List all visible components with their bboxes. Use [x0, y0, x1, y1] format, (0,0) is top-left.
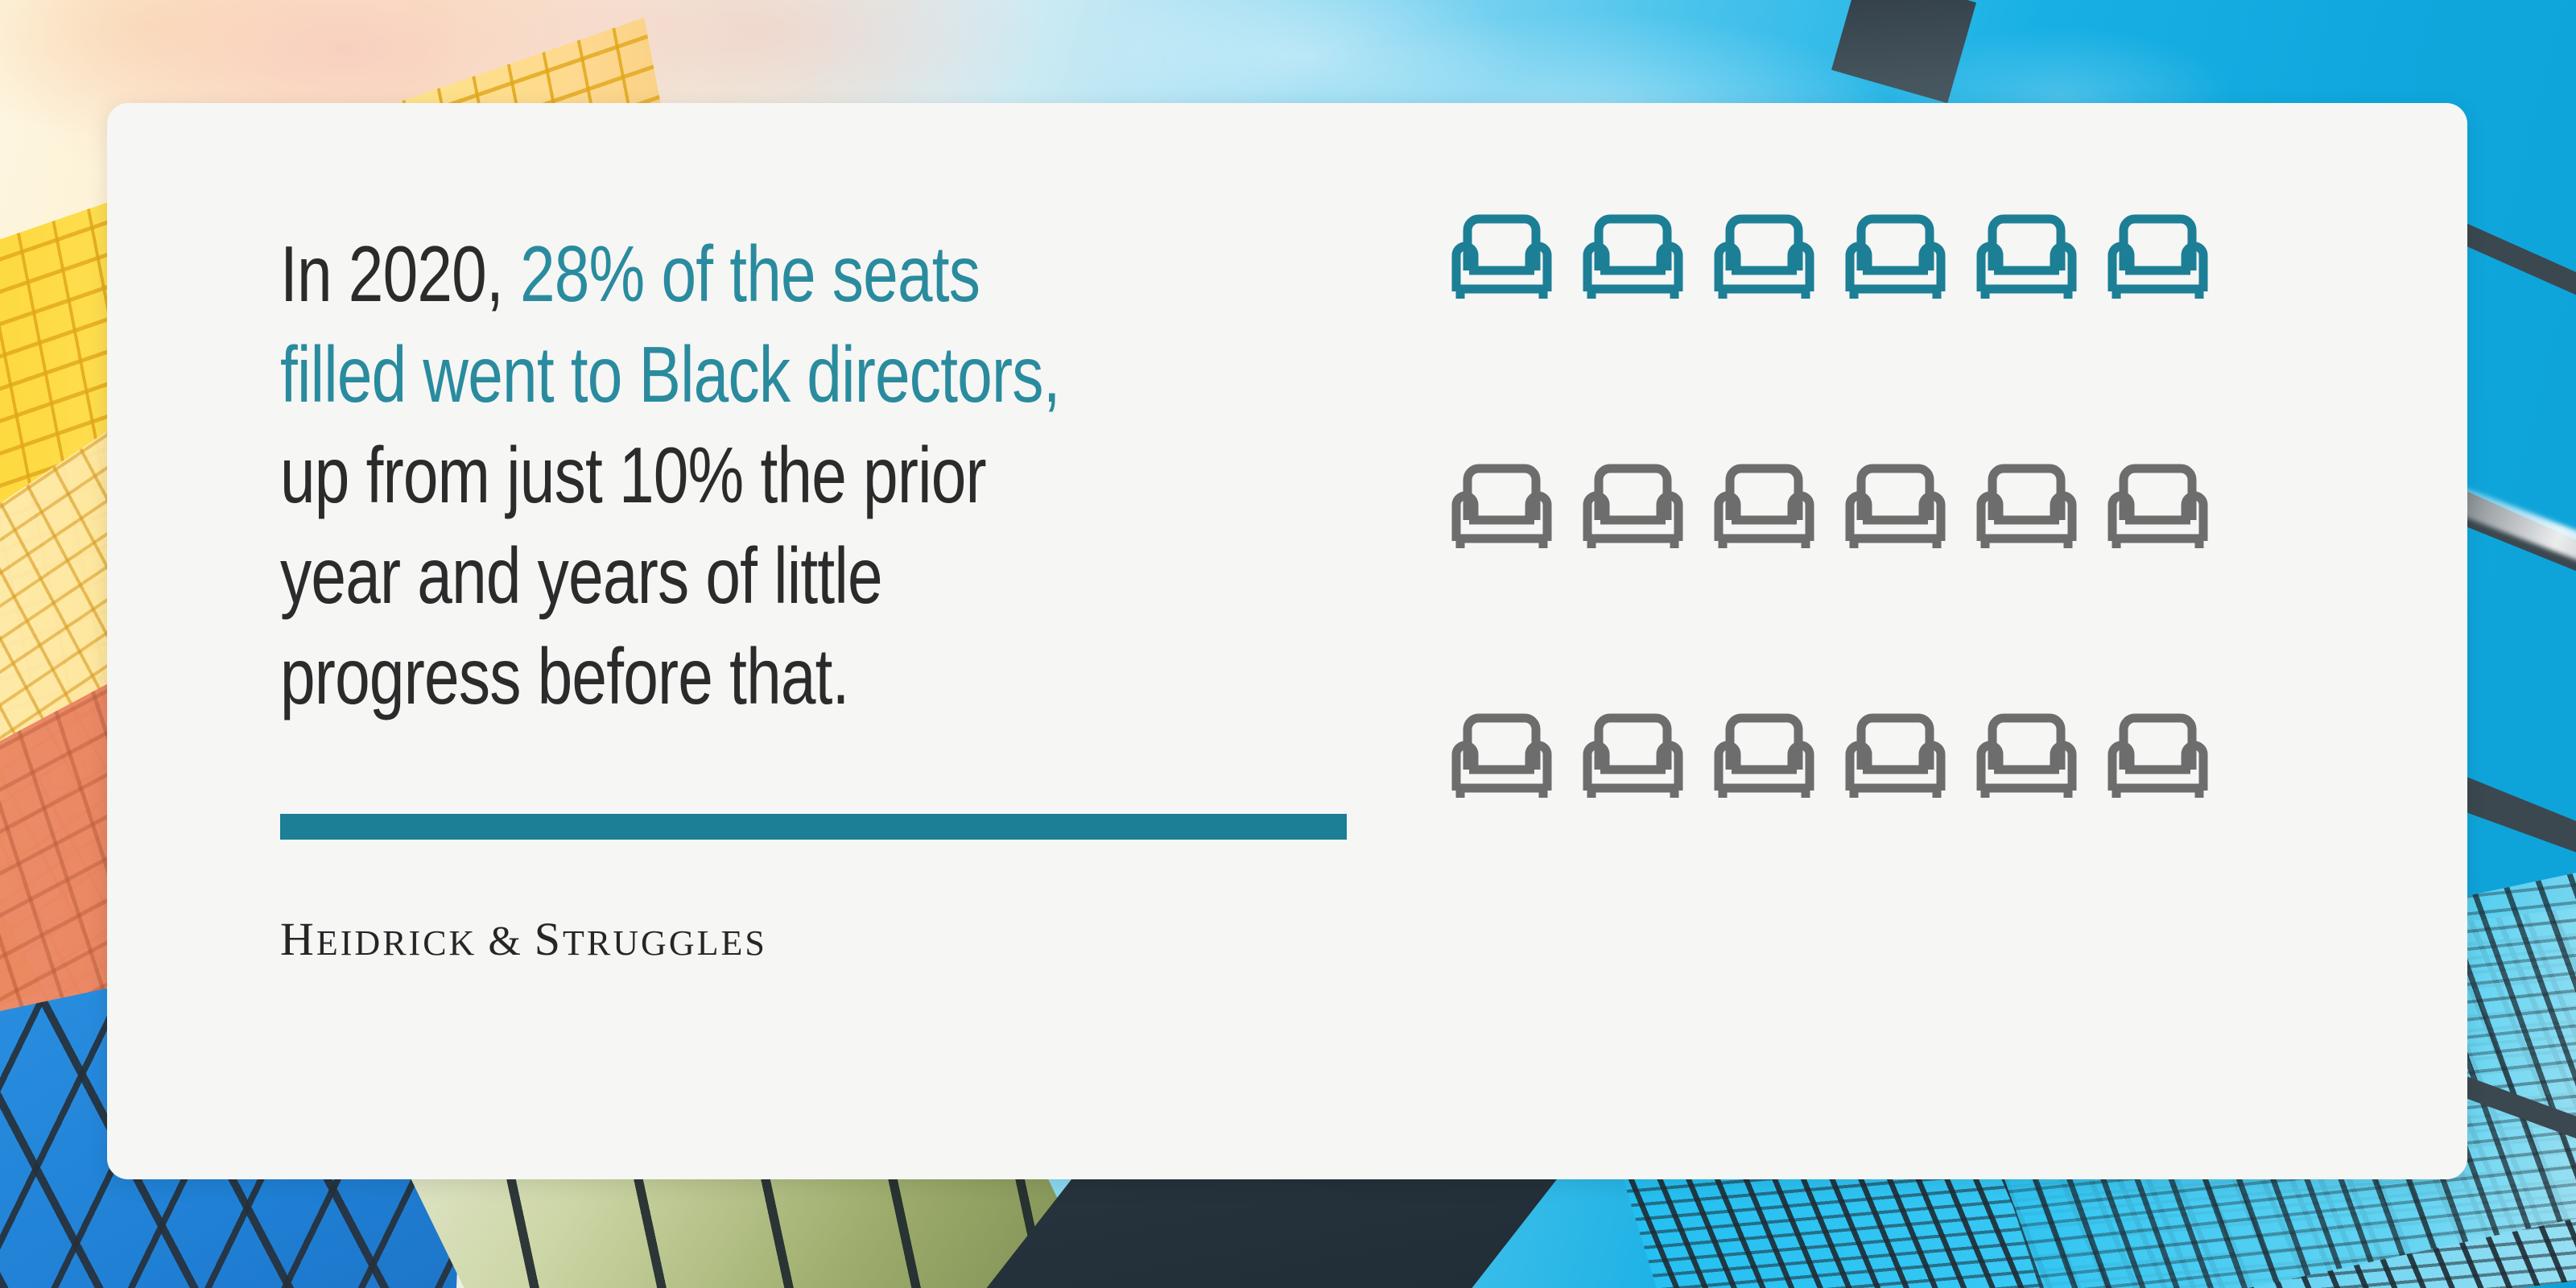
seat-pictogram-grid [1451, 211, 2467, 835]
seat-icon-empty [1845, 460, 1946, 551]
seat-icon-empty [1976, 460, 2077, 551]
seat-icon-empty [2107, 460, 2208, 551]
seat-icon-empty [1714, 460, 1814, 551]
brand-logo: HEIDRICK&STRUGGLES [280, 912, 1331, 966]
seat-icon-empty [1583, 710, 1683, 800]
seat-icon-filled [1583, 211, 1683, 301]
accent-divider-bar [280, 814, 1347, 840]
seat-icon-filled [1451, 211, 1552, 301]
brand-word-heidrick: EIDRICK [316, 923, 477, 963]
seat-icon-empty [1451, 460, 1552, 551]
card-text-column: In 2020, 28% of the seats filled went to… [107, 103, 1331, 966]
seat-icon-empty [1976, 710, 2077, 800]
headline-segment-tail: up from just 10% the prior year and year… [280, 431, 986, 720]
seat-icon-filled [1714, 211, 1814, 301]
headline: In 2020, 28% of the seats filled went to… [280, 224, 1117, 727]
seat-icon-filled [1976, 211, 2077, 301]
brand-ampersand: & [477, 919, 534, 964]
seat-icon-empty [2107, 710, 2208, 800]
brand-initial-h: H [280, 913, 316, 965]
stat-card: In 2020, 28% of the seats filled went to… [107, 103, 2467, 1179]
seat-icon-empty [1845, 710, 1946, 800]
pictogram-title: Share of board seats filled by Black dir… [1451, 835, 1452, 836]
card-pictogram-column: Share of board seats filled by Black dir… [1331, 103, 2467, 835]
brand-word-struggles: TRUGGLES [563, 923, 767, 963]
seat-icon-empty [1583, 460, 1683, 551]
seat-icon-filled [1845, 211, 1946, 301]
headline-segment-lead: In 2020, [280, 229, 520, 318]
seat-icon-empty [1451, 710, 1552, 800]
seat-icon-empty [1714, 710, 1814, 800]
seat-icon-filled [2107, 211, 2208, 301]
brand-initial-s: S [535, 913, 563, 965]
